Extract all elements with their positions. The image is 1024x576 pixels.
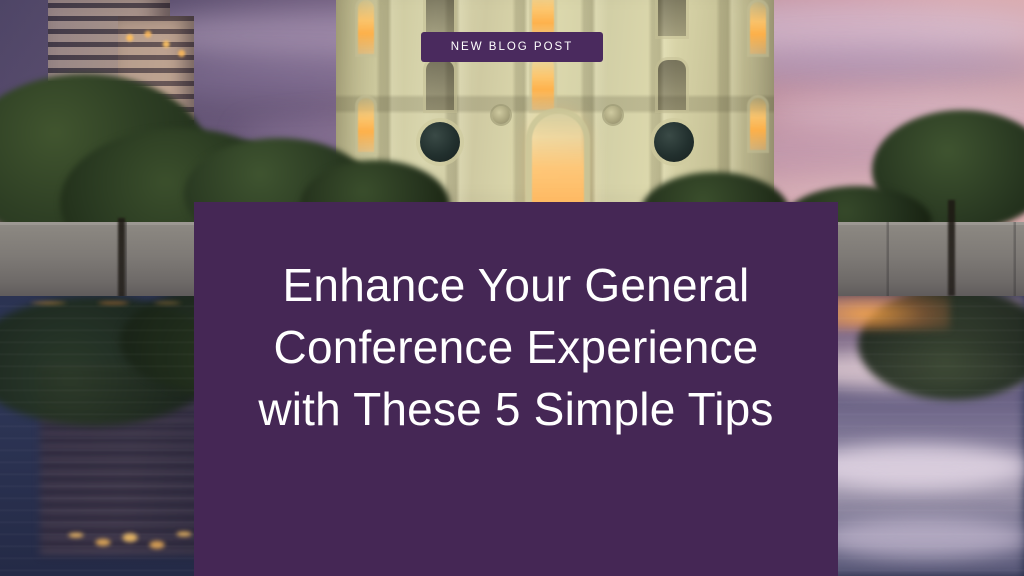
headline-line-3: with These 5 Simple Tips <box>194 378 838 440</box>
temple-medallion <box>654 122 694 162</box>
temple-window <box>658 60 686 110</box>
temple-window <box>426 0 454 34</box>
temple-rosette <box>492 106 510 124</box>
badge-label: NEW BLOG POST <box>451 41 574 53</box>
temple-window-lit <box>532 56 554 110</box>
temple-rosette <box>604 106 622 124</box>
temple-window-lit <box>358 98 374 152</box>
tree-trunk <box>118 218 125 298</box>
new-blog-post-badge: NEW BLOG POST <box>421 32 603 62</box>
headline-panel: Enhance Your General Conference Experien… <box>194 202 838 576</box>
temple-window <box>658 0 686 36</box>
temple-window-lit <box>750 2 766 54</box>
promo-banner: NEW BLOG POST Enhance Your General Confe… <box>0 0 1024 576</box>
headline-line-2: Conference Experience <box>194 316 838 378</box>
building-window-lights <box>120 24 190 70</box>
temple-medallion <box>420 122 460 162</box>
temple-window-lit <box>750 98 766 150</box>
page-title: Enhance Your General Conference Experien… <box>194 254 838 440</box>
headline-line-1: Enhance Your General <box>194 254 838 316</box>
temple-window-lit <box>358 0 374 54</box>
tree-trunk <box>948 200 955 296</box>
temple-window <box>426 60 454 110</box>
